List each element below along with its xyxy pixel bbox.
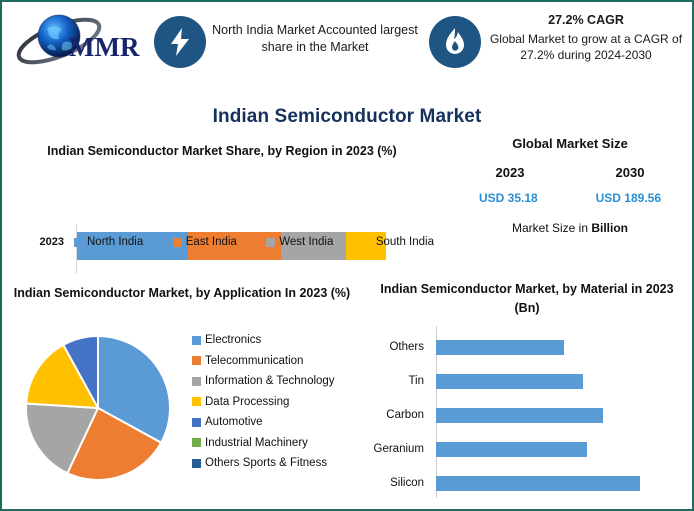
region-legend-label: East India bbox=[186, 236, 237, 248]
gms-value-2023: USD 35.18 bbox=[479, 191, 538, 205]
region-legend-item: South India bbox=[363, 236, 434, 248]
application-legend-label: Information & Technology bbox=[205, 375, 335, 387]
cagr-detail: Global Market to grow at a CAGR of 27.2%… bbox=[488, 31, 684, 63]
material-bar-row: Carbon bbox=[368, 398, 690, 432]
material-bar bbox=[436, 442, 587, 457]
material-bar-row: Others bbox=[368, 330, 690, 364]
legend-swatch-icon bbox=[74, 238, 83, 247]
infographic-page: MMR North India Market Accounted largest… bbox=[0, 0, 694, 511]
gms-value-2030: USD 189.56 bbox=[596, 191, 661, 205]
material-bar-label: Silicon bbox=[368, 477, 430, 489]
flame-icon bbox=[429, 16, 481, 68]
page-title: Indian Semiconductor Market bbox=[2, 106, 692, 128]
lightning-bolt-icon bbox=[154, 16, 206, 68]
global-market-size-panel: Global Market Size 2023 2030 USD 35.18 U… bbox=[450, 136, 690, 258]
pie-graphic bbox=[22, 332, 174, 484]
material-plot-area: OthersTinCarbonGeraniumSilicon bbox=[368, 326, 690, 502]
legend-swatch-icon bbox=[192, 418, 201, 427]
region-legend: North IndiaEast IndiaWest IndiaSouth Ind… bbox=[74, 236, 434, 248]
application-legend-item: Others Sports & Fitness bbox=[192, 457, 372, 469]
application-legend-item: Industrial Machinery bbox=[192, 437, 372, 449]
gms-year-2023: 2023 bbox=[496, 165, 525, 180]
application-legend-label: Electronics bbox=[205, 334, 261, 346]
region-axis-label: 2023 bbox=[18, 236, 64, 248]
legend-swatch-icon bbox=[192, 397, 201, 406]
region-plot-area: 2023 bbox=[14, 184, 434, 232]
application-legend-item: Automotive bbox=[192, 416, 372, 428]
application-legend-label: Data Processing bbox=[205, 396, 289, 408]
material-bar bbox=[436, 374, 583, 389]
material-bar-label: Others bbox=[368, 341, 430, 353]
legend-swatch-icon bbox=[363, 238, 372, 247]
application-legend-label: Others Sports & Fitness bbox=[205, 457, 327, 469]
cagr-stat-block: 27.2% CAGR Global Market to grow at a CA… bbox=[488, 12, 684, 63]
region-legend-label: North India bbox=[87, 236, 143, 248]
legend-swatch-icon bbox=[192, 336, 201, 345]
legend-swatch-icon bbox=[192, 438, 201, 447]
legend-swatch-icon bbox=[173, 238, 182, 247]
cagr-headline: 27.2% CAGR bbox=[488, 12, 684, 29]
application-legend-item: Telecommunication bbox=[192, 355, 372, 367]
material-chart-title: Indian Semiconductor Market, by Material… bbox=[372, 280, 682, 318]
material-bar bbox=[436, 340, 564, 355]
gms-footer-unit: Billion bbox=[591, 221, 628, 235]
application-legend-item: Electronics bbox=[192, 334, 372, 346]
region-legend-item: East India bbox=[173, 236, 237, 248]
material-bar-label: Carbon bbox=[368, 409, 430, 421]
region-legend-label: South India bbox=[376, 236, 434, 248]
header-band: MMR North India Market Accounted largest… bbox=[2, 2, 692, 90]
region-legend-item: West India bbox=[266, 236, 333, 248]
legend-swatch-icon bbox=[192, 459, 201, 468]
gms-footer: Market Size in Billion bbox=[450, 221, 690, 235]
application-legend-label: Telecommunication bbox=[205, 355, 303, 367]
bolt-stat-text: North India Market Accounted largest sha… bbox=[212, 22, 418, 56]
application-chart-title: Indian Semiconductor Market, by Applicat… bbox=[12, 284, 352, 303]
application-legend-label: Industrial Machinery bbox=[205, 437, 308, 449]
application-legend-item: Data Processing bbox=[192, 396, 372, 408]
material-bar-row: Geranium bbox=[368, 432, 690, 466]
material-bar-label: Geranium bbox=[368, 443, 430, 455]
legend-swatch-icon bbox=[192, 377, 201, 386]
mmr-globe-logo: MMR bbox=[14, 10, 154, 72]
application-pie-chart: Indian Semiconductor Market, by Applicat… bbox=[12, 284, 372, 506]
gms-footer-prefix: Market Size in bbox=[512, 221, 591, 235]
application-legend-item: Information & Technology bbox=[192, 375, 372, 387]
material-bar-label: Tin bbox=[368, 375, 430, 387]
gms-year-2030: 2030 bbox=[616, 165, 645, 180]
legend-swatch-icon bbox=[192, 356, 201, 365]
logo-text: MMR bbox=[69, 32, 140, 62]
region-legend-label: West India bbox=[279, 236, 333, 248]
material-bar-row: Silicon bbox=[368, 466, 690, 500]
gms-values: USD 35.18 USD 189.56 bbox=[450, 191, 690, 205]
gms-title: Global Market Size bbox=[450, 136, 690, 151]
region-share-chart: Indian Semiconductor Market Share, by Re… bbox=[14, 142, 434, 260]
region-chart-title: Indian Semiconductor Market Share, by Re… bbox=[22, 142, 422, 160]
application-legend-label: Automotive bbox=[205, 416, 263, 428]
material-bar-row: Tin bbox=[368, 364, 690, 398]
material-bar-chart: Indian Semiconductor Market, by Material… bbox=[368, 280, 690, 506]
region-legend-item: North India bbox=[74, 236, 143, 248]
material-bar bbox=[436, 476, 640, 491]
gms-years: 2023 2030 bbox=[450, 165, 690, 180]
application-legend: ElectronicsTelecommunicationInformation … bbox=[192, 334, 372, 478]
legend-swatch-icon bbox=[266, 238, 275, 247]
material-bar bbox=[436, 408, 603, 423]
